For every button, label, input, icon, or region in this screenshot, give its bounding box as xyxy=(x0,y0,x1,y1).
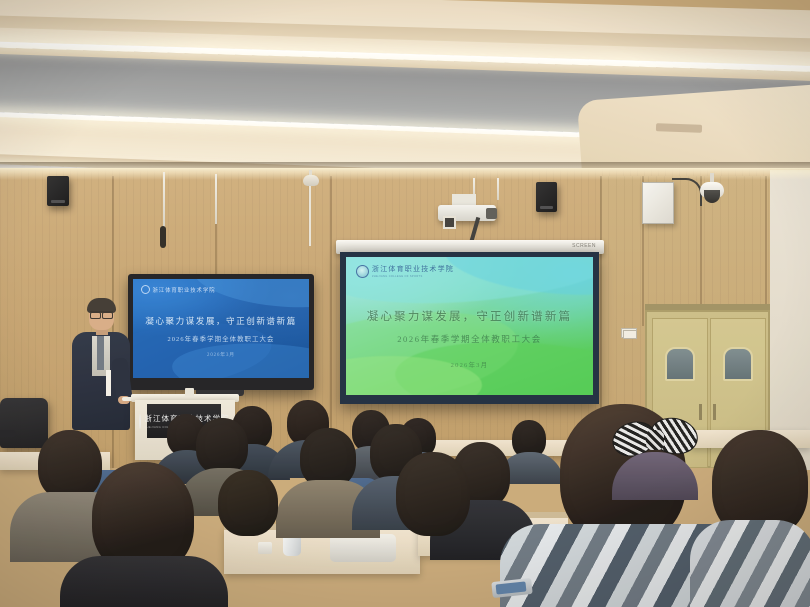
cup xyxy=(258,542,272,554)
control-box-cable xyxy=(672,178,702,206)
control-box-icon xyxy=(642,182,674,224)
photo-scene: SCREEN 浙江体育职业技术学院 ZHEJIANG COLLEGE OF SP… xyxy=(0,0,810,607)
hanging-microphone-icon xyxy=(160,226,166,248)
projector-lens-icon xyxy=(486,208,497,219)
main-projection-screen: 浙江体育职业技术学院 ZHEJIANG COLLEGE OF SPORTS 凝心… xyxy=(346,257,593,395)
wall-speaker-left-icon xyxy=(47,176,69,206)
door-handle[interactable] xyxy=(713,404,716,420)
interactive-flat-panel-frame: 浙江体育职业技术学院 凝心聚力谋发展，守正创新谱新篇 2026年春季学期全体教职… xyxy=(128,274,314,390)
presenter-glasses-icon xyxy=(90,311,113,316)
lectern-cup xyxy=(185,388,194,397)
hanging-cable xyxy=(215,174,217,224)
tv-slide-date: 2026年3月 xyxy=(207,351,235,358)
laptop-case xyxy=(330,534,396,562)
door-window xyxy=(665,347,695,381)
hanging-microphone-cable xyxy=(163,172,165,228)
tv-slide-title: 凝心聚力谋发展，守正创新谱新篇 xyxy=(145,315,296,327)
presenter xyxy=(70,300,132,430)
audience-shoulders-striped xyxy=(690,520,810,607)
slide-title: 凝心聚力谋发展，守正创新谱新篇 xyxy=(367,308,573,324)
dome-camera-center-icon xyxy=(303,175,319,186)
slide-subtitle: 2026年春季学期全体教职工大会 xyxy=(397,333,542,345)
office-chair-armrest xyxy=(0,430,16,437)
audience-head xyxy=(196,418,248,474)
ceiling xyxy=(0,0,810,186)
hair-bow-knot xyxy=(646,430,664,450)
audience-shoulders xyxy=(60,556,228,607)
presenter-tie xyxy=(97,336,104,370)
hanging-cable xyxy=(497,178,499,200)
door-window xyxy=(723,347,753,381)
office-chair xyxy=(0,398,48,448)
audience-head xyxy=(300,428,356,488)
hanging-cable xyxy=(309,186,311,246)
audience-head xyxy=(38,430,102,500)
slide-date: 2026年3月 xyxy=(451,359,489,369)
screen-brand-label: SCREEN xyxy=(572,243,596,249)
interactive-flat-panel[interactable]: 浙江体育职业技术学院 凝心聚力谋发展，守正创新谱新篇 2026年春季学期全体教职… xyxy=(133,279,309,378)
dome-camera-right-icon xyxy=(700,182,724,198)
ceiling-vent xyxy=(656,123,702,133)
audience-head xyxy=(396,452,470,536)
projection-screen-frame: 浙江体育职业技术学院 ZHEJIANG COLLEGE OF SPORTS 凝心… xyxy=(340,252,599,404)
presenter-lanyard xyxy=(106,370,111,396)
tv-slide-subtitle: 2026年春季学期全体教职工大会 xyxy=(167,334,274,343)
university-emblem-icon xyxy=(139,414,141,429)
audience-head xyxy=(218,470,278,536)
wall-switch-icon[interactable] xyxy=(623,330,637,339)
wall-speaker-right-icon xyxy=(536,182,557,212)
door-handle[interactable] xyxy=(699,404,702,420)
wall-seam xyxy=(330,176,332,468)
wall-plate xyxy=(443,216,456,229)
far-right-wall xyxy=(770,170,810,470)
